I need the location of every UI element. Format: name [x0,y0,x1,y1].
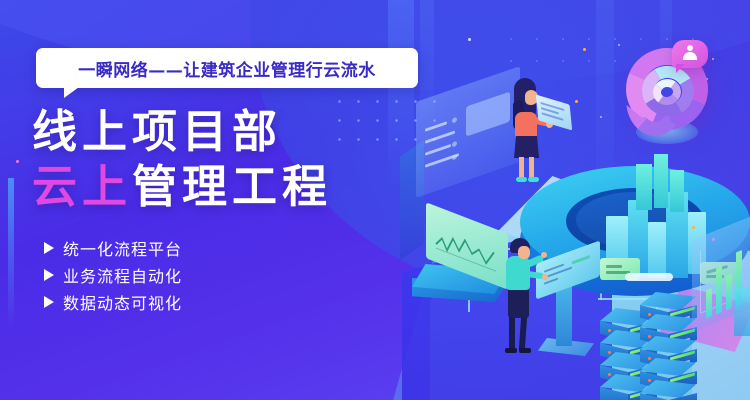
speech-bubble-tail [676,64,685,73]
user-icon [687,45,693,51]
tagline-ribbon-tail [64,87,79,98]
card-bullet-dot [452,117,457,124]
figure-shoe [519,348,531,353]
tablet-text-line [541,112,563,121]
data-column [670,170,684,212]
data-column [636,164,652,210]
headline-line-2: 云上管理工程 [32,159,452,214]
data-column [654,154,668,208]
page-title: 线上项目部 云上管理工程 [32,104,452,214]
card-bullet-dot [452,141,457,148]
figure-face [518,246,530,259]
triangle-right-icon [44,296,54,308]
sign-glyph [606,265,622,268]
feature-list: 统一化流程平台 业务流程自动化 数据动态可视化 [44,234,182,315]
triangle-right-icon [44,242,54,254]
man-at-console-figure [500,238,548,354]
sparkle-dot [692,226,695,229]
chart-bar [706,288,712,318]
figure-leg [509,316,515,350]
console-stem [556,284,572,346]
figure-pants [508,288,529,318]
headline-line-2-rest: 管理工程 [132,160,332,213]
list-item-label: 统一化流程平台 [63,236,182,260]
promo-banner: 一瞬网络——让建筑企业管理行云流水 线上项目部 云上管理工程 统一化流程平台 业… [0,0,750,400]
headline-line-1: 线上项目部 [32,104,452,159]
tagline-text: 一瞬网络——让建筑企业管理行云流水 [78,56,376,81]
tagline-ribbon: 一瞬网络——让建筑企业管理行云流水 [36,48,418,88]
list-item: 统一化流程平台 [44,234,182,261]
chart-bar [716,266,722,314]
list-item: 业务流程自动化 [44,261,182,288]
triangle-right-icon [44,269,54,281]
list-item-label: 业务流程自动化 [63,263,182,287]
chart-axis [700,250,701,312]
figure-hand [542,274,548,280]
figure-shoe [505,348,517,353]
platform-indicator-bar [625,273,673,281]
headline-accent: 云上 [32,160,132,213]
figure-hand [541,252,547,258]
card-bullet-dot [452,154,457,161]
user-icon [683,52,697,60]
data-column [648,222,666,278]
figure-leg [519,316,527,350]
list-item: 数据动态可视化 [44,288,182,315]
chart-bar [726,274,732,310]
list-item-label: 数据动态可视化 [63,290,182,314]
background-block [734,288,750,336]
server-unit [640,380,696,400]
console-glyph [572,255,590,265]
